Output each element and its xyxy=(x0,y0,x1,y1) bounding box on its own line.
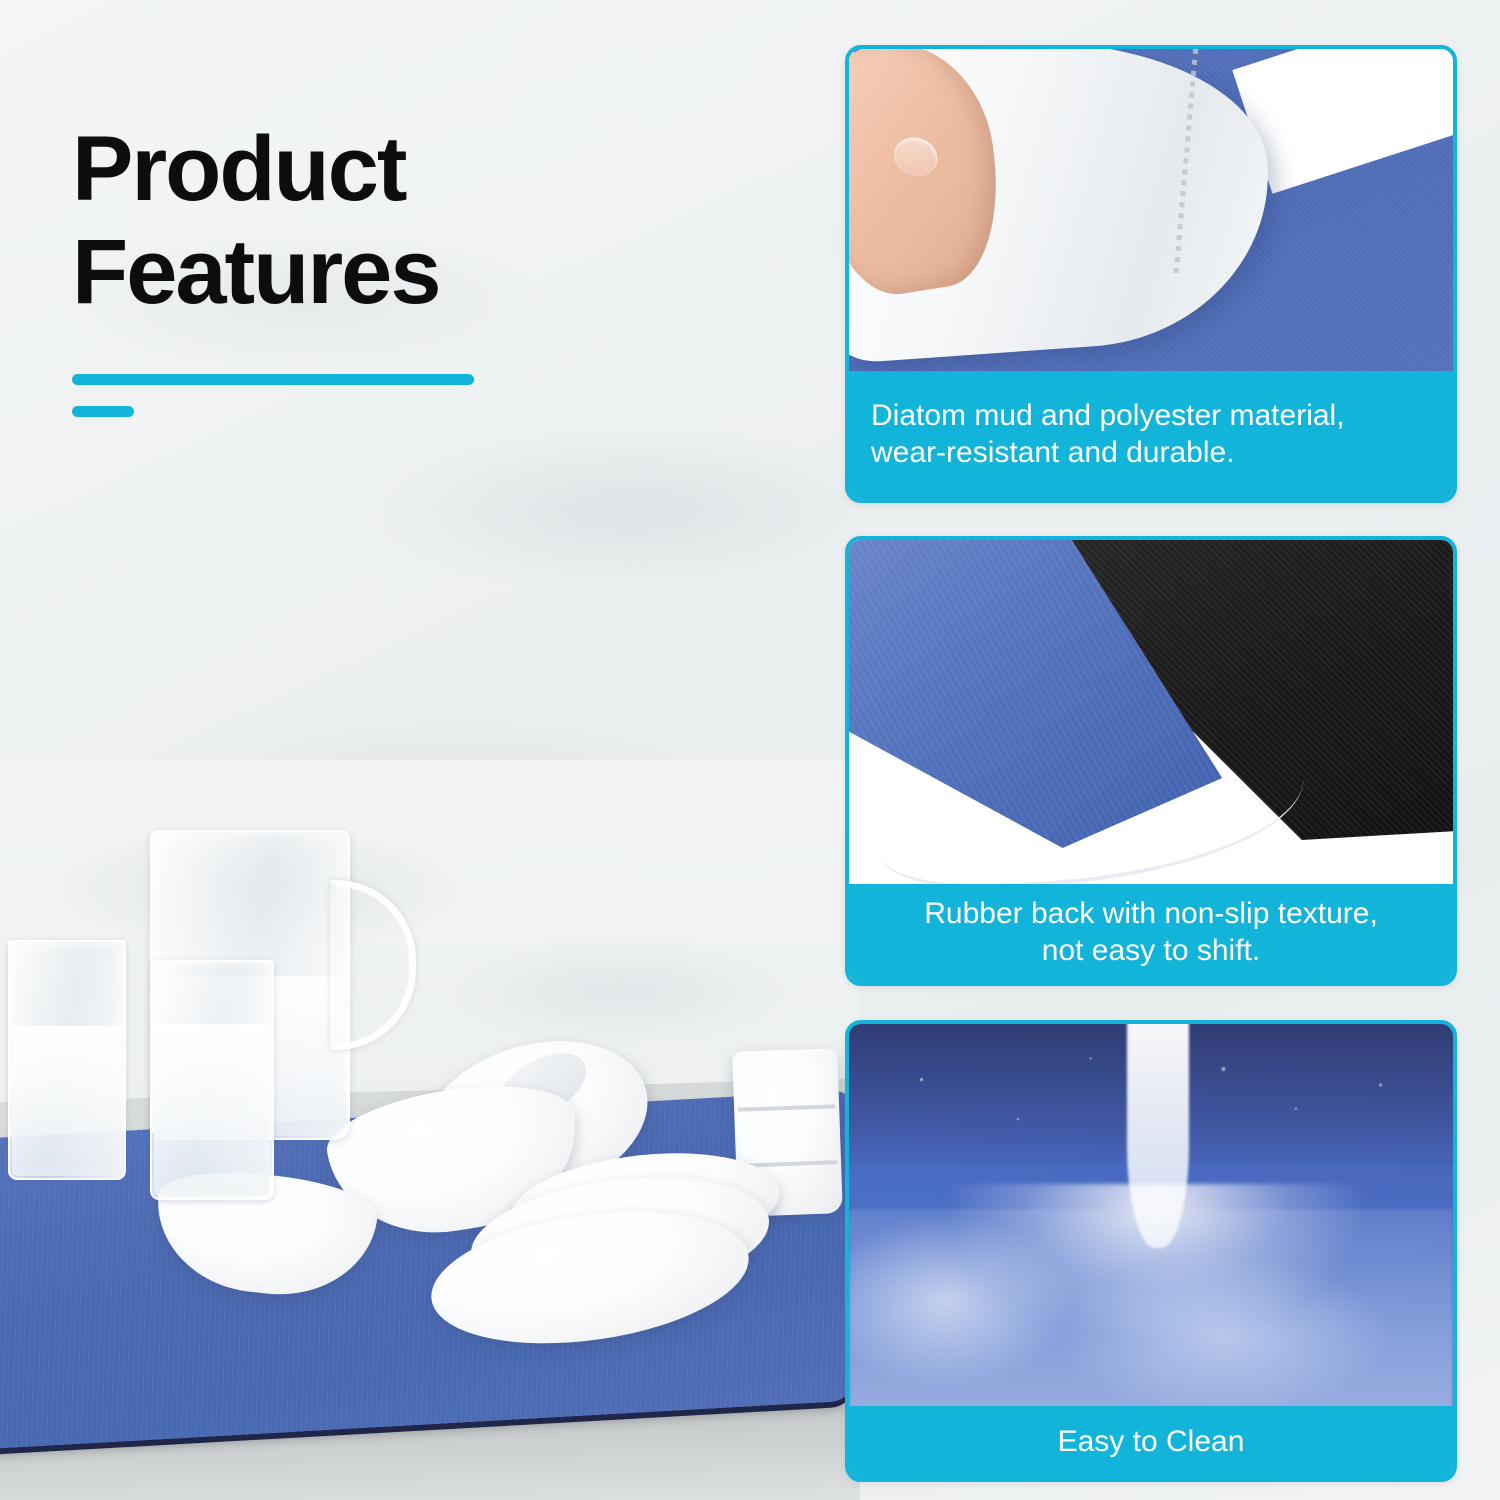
feature-photo-material xyxy=(849,49,1453,379)
water-foam xyxy=(849,1209,1453,1414)
page-title: Product Features xyxy=(72,118,712,324)
feature-caption-easy-clean: Easy to Clean xyxy=(849,1406,1453,1478)
feature-card-rubber-back: Rubber back with non-slip texture, not e… xyxy=(845,536,1457,986)
accent-rule-long xyxy=(72,374,474,385)
feature-caption-material: Diatom mud and polyester material, wear-… xyxy=(849,371,1453,499)
heading-block: Product Features xyxy=(72,118,712,417)
water-glass-left xyxy=(8,940,126,1180)
hero-product-photo xyxy=(0,760,860,1500)
feature-caption-rubber-back: Rubber back with non-slip texture, not e… xyxy=(849,884,1453,982)
feature-photo-rubber-back xyxy=(849,540,1453,892)
thumbnail xyxy=(889,132,943,182)
feature-photo-easy-clean xyxy=(849,1024,1453,1414)
accent-rule-short xyxy=(72,406,134,417)
feature-card-material: Diatom mud and polyester material, wear-… xyxy=(845,45,1457,503)
water-glass-right xyxy=(150,960,274,1200)
feature-card-easy-clean: Easy to Clean xyxy=(845,1020,1457,1482)
